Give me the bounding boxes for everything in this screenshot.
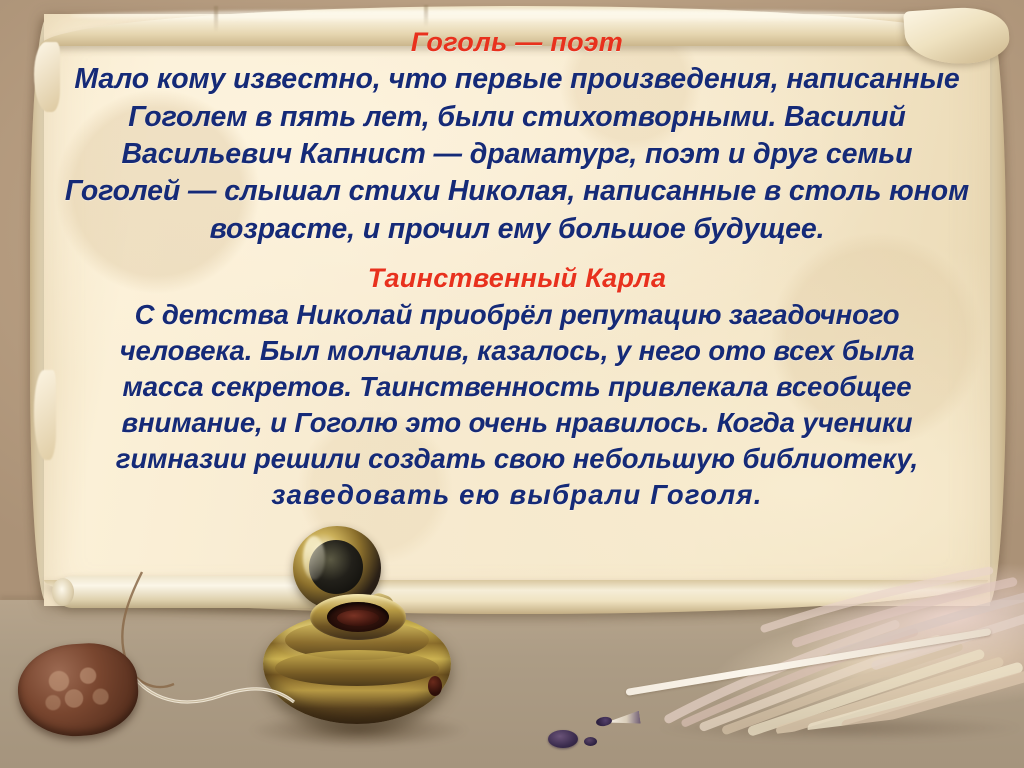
paragraph-line: С детства Николай приобрёл репутацию заг… <box>61 297 973 333</box>
ink-drop-small <box>584 737 597 746</box>
scroll-top-highlight <box>70 10 950 22</box>
section-heading-mysterious: Таинственный Карла <box>52 264 982 292</box>
quill-nib-tip <box>595 716 612 727</box>
inkwell-ink-droplet <box>428 676 442 696</box>
inkwell-lid-highlight <box>303 536 325 580</box>
ink-drop-large <box>548 730 578 748</box>
presentation-slide: Гоголь — поэт Мало кому известно, что пе… <box>0 0 1024 768</box>
paragraph-line: заведовать ею выбрали Гоголя. <box>61 477 973 513</box>
inkwell-ink <box>337 610 379 626</box>
paragraph-mysterious: С детства Николай приобрёл репутацию заг… <box>61 297 973 513</box>
paragraph-line: внимание, и Гоголю это очень нравилось. … <box>61 405 973 441</box>
paragraph-line: Гоголем в пять лет, были стихотворными. … <box>52 99 982 136</box>
paragraph-line: человека. Был молчалив, казалось, у него… <box>61 333 973 369</box>
paragraph-line: возрасте, и прочил ему большое будущее. <box>52 211 982 248</box>
slide-content: Гоголь — поэт Мало кому известно, что пе… <box>52 22 982 582</box>
paragraph-line: гимназии решили создать свою небольшую б… <box>61 441 973 477</box>
paragraph-line: Васильевич Капнист — драматург, поэт и д… <box>52 136 982 173</box>
inkwell-ring-lower <box>275 650 439 686</box>
wax-seal-stamp <box>15 640 141 740</box>
paragraph-line: масса секретов. Таинственность привлекал… <box>61 369 973 405</box>
paragraph-line: Мало кому известно, что первые произведе… <box>52 61 982 98</box>
section-heading-poet: Гоголь — поэт <box>52 28 982 56</box>
paragraph-poet: Мало кому известно, что первые произведе… <box>52 61 982 248</box>
rolled-paper-end <box>52 578 74 606</box>
paragraph-line: Гоголей — слышал стихи Николая, написанн… <box>52 173 982 210</box>
brass-inkwell <box>255 520 460 768</box>
feather-quill <box>530 565 1024 768</box>
